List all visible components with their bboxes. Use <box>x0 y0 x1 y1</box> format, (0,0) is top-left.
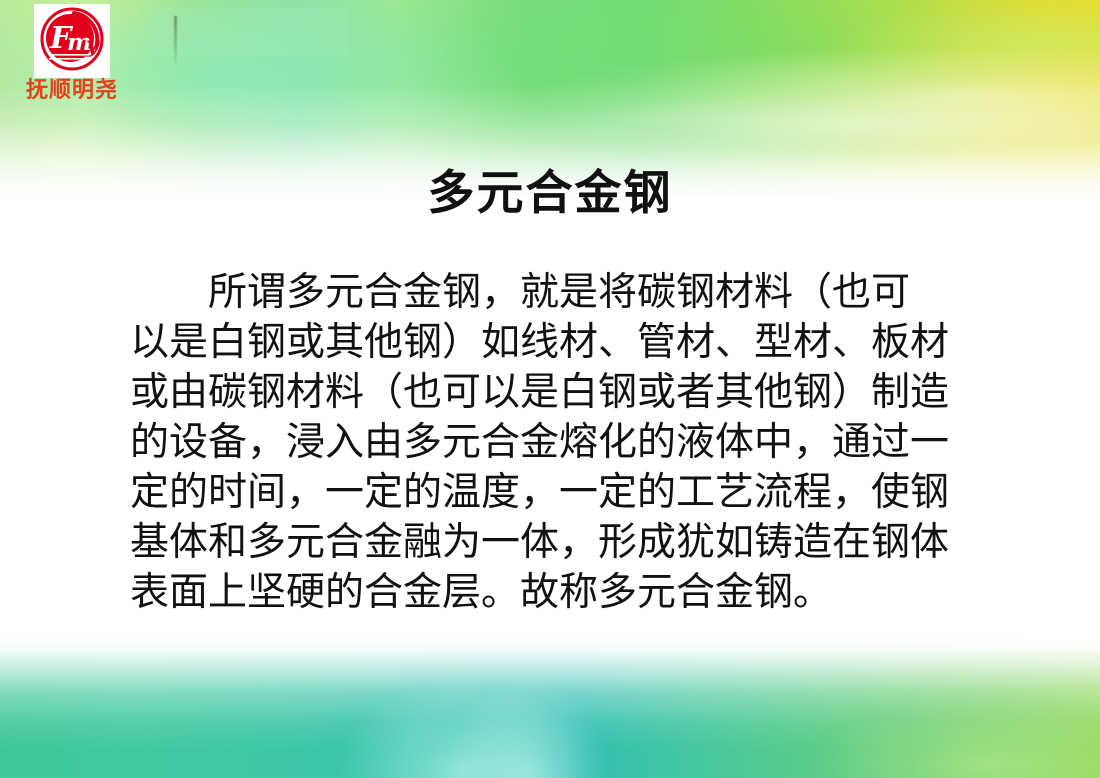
bottom-decorative-band <box>0 638 1100 778</box>
fmy-logo-icon: F m y <box>34 4 110 78</box>
slide-canvas: F m y 抚顺明尧 多元合金钢 所谓多元合金钢，就是将碳钢材料（也可 以是白钢… <box>0 0 1100 778</box>
company-name-label: 抚顺明尧 <box>12 80 132 102</box>
body-line: 以是白钢或其他钢）如线材、管材、型材、板材 <box>130 318 1030 368</box>
body-line: 基体和多元合金融为一体，形成犹如铸造在钢体 <box>130 518 1030 568</box>
brand-logo-block: F m y 抚顺明尧 <box>12 2 132 120</box>
slide-title: 多元合金钢 <box>0 166 1100 222</box>
body-paragraph: 所谓多元合金钢，就是将碳钢材料（也可 以是白钢或其他钢）如线材、管材、型材、板材… <box>130 268 1030 618</box>
body-line: 所谓多元合金钢，就是将碳钢材料（也可 <box>130 268 1030 318</box>
slide-body-text: 所谓多元合金钢，就是将碳钢材料（也可 以是白钢或其他钢）如线材、管材、型材、板材… <box>130 268 1030 618</box>
body-line: 定的时间，一定的温度，一定的工艺流程，使钢 <box>130 468 1030 518</box>
bottom-band-white-fade <box>0 638 1100 778</box>
body-line: 或由碳钢材料（也可以是白钢或者其他钢）制造 <box>130 368 1030 418</box>
body-line: 表面上坚硬的合金层。故称多元合金钢。 <box>130 568 1030 618</box>
body-line: 的设备，浸入由多元合金熔化的液体中，通过一 <box>130 418 1030 468</box>
